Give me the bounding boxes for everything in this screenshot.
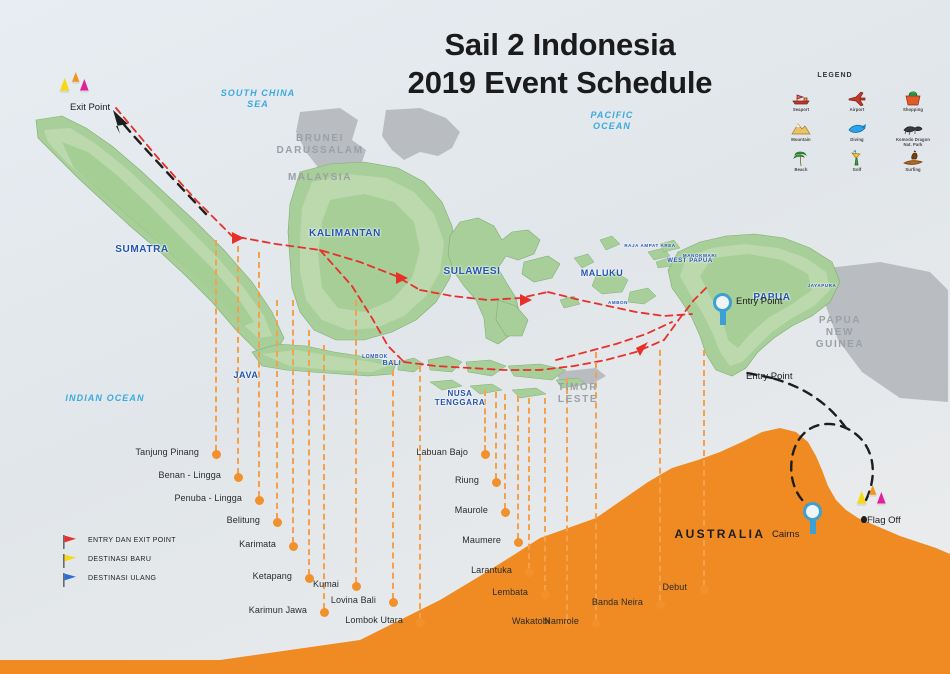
destination-label-labuan-bajo: Labuan Bajo (416, 447, 468, 457)
komodo-icon (903, 120, 923, 136)
legend-item-label: Surfing (886, 167, 940, 172)
legend-icon-wrap (774, 116, 828, 136)
ocean-label-south-china-sea: SOUTH CHINA SEA (211, 88, 306, 110)
destination-dot-lembata (541, 590, 550, 599)
destination-label-kumai: Kumai (313, 579, 339, 589)
legend-item-beach: Beach (774, 146, 828, 172)
surfing-icon (903, 150, 923, 166)
destination-dot-maurole (501, 508, 510, 517)
destination-dot-banda-neira (656, 600, 665, 609)
seaport-icon (791, 90, 811, 106)
destination-label-banda-neira: Banda Neira (592, 597, 643, 607)
destination-label-penuba-lingga: Penuba - Lingga (174, 493, 242, 503)
destination-dot-larantuka (525, 568, 534, 577)
leader-line-benan-lingga (237, 246, 239, 474)
leader-line-belitung (276, 300, 278, 519)
destination-dot-tanjung-pinang (212, 450, 221, 459)
label-cairns: Cairns (772, 529, 799, 540)
destination-label-riung: Riung (455, 475, 479, 485)
destination-dot-riung (492, 478, 501, 487)
flag-legend-row: DESTINASI BARU (62, 553, 262, 572)
legend-icon-wrap (886, 116, 940, 136)
legend-icon-wrap (774, 146, 828, 166)
title-line-1: Sail 2 Indonesia (360, 26, 760, 64)
mountain-icon (791, 120, 811, 136)
island-label-java: JAVA (229, 370, 263, 380)
destination-label-namrole: Namrole (544, 616, 579, 626)
red-sail-route (116, 108, 706, 370)
country-label-malaysia: MALAYSIA (275, 172, 365, 184)
destination-dot-labuan-bajo (481, 450, 490, 459)
leader-line-maurole (504, 394, 506, 509)
flag-legend-label: ENTRY DAN EXIT POINT (88, 537, 176, 544)
flag-legend-label: DESTINASI BARU (88, 556, 151, 563)
legend-item-label: Airport (830, 107, 884, 112)
destination-label-lovina-bali: Lovina Bali (331, 595, 376, 605)
island-label-sulawesi: SULAWESI (442, 266, 502, 277)
label-flag-off: Flag Off (867, 515, 901, 526)
island-label-west-papua: WEST PAPUA (664, 258, 716, 264)
diving-icon (847, 120, 867, 136)
page-title: Sail 2 Indonesia 2019 Event Schedule (360, 26, 760, 102)
legend-panel: LEGEND SeaportAirportShoppingMountainDiv… (772, 62, 942, 170)
island-label-raja-ampat-area: RAJA AMPAT AREA (619, 243, 681, 248)
leader-line-riung (495, 392, 497, 479)
ring-tail-cairns (810, 519, 816, 534)
destination-dot-lombok-utara (416, 618, 425, 627)
legend-icon-wrap (774, 86, 828, 106)
country-label-brunei-darussalam: BRUNEIDARUSSALAM (275, 133, 365, 157)
destination-dot-karimun-jawa (320, 608, 329, 617)
legend-icon-wrap (830, 86, 884, 106)
leader-line-lembata (544, 398, 546, 591)
beach-icon (791, 150, 811, 166)
legend-item-diving: Diving (830, 116, 884, 142)
destination-dot-karimata (289, 542, 298, 551)
flag-legend-row: DESTINASI ULANG (62, 572, 262, 591)
leader-line-karimun-jawa (323, 345, 325, 609)
sailboat-trio-icon (855, 485, 901, 515)
legend-title: LEGEND (800, 72, 870, 79)
leader-line-karimata (292, 300, 294, 543)
country-label-timor-leste: TIMORLESTE (552, 382, 604, 406)
legend-item-surfing: Surfing (886, 146, 940, 172)
leader-line-wakatobi (566, 378, 568, 620)
leader-line-kumai (355, 300, 357, 583)
ring-tail-entry-point-1 (720, 310, 726, 325)
leader-line-debut (703, 350, 705, 586)
island-label-lombok: LOMBOK (360, 354, 390, 360)
island-label-sumatra: SUMATRA (112, 244, 172, 255)
red-flag-icon (62, 535, 78, 549)
airport-icon (847, 90, 867, 106)
label-entry-point-1: Entry Point (736, 296, 782, 307)
legend-item-label: Shopping (886, 107, 940, 112)
country-label-papua-new-guinea: PAPUANEWGUINEA (809, 315, 871, 351)
destination-dot-penuba-lingga (255, 496, 264, 505)
destination-dot-kumai (352, 582, 361, 591)
black-exit-route (120, 120, 206, 214)
legend-item-label: Diving (830, 137, 884, 142)
island-label-jayapura: JAYAPURA (805, 283, 839, 288)
legend-item-seaport: Seaport (774, 86, 828, 112)
destination-dot-belitung (273, 518, 282, 527)
legend-item-label: Beach (774, 167, 828, 172)
destination-dot-namrole (592, 619, 601, 628)
island-label-maluku: MALUKU (576, 268, 628, 278)
legend-icon-wrap (886, 86, 940, 106)
legend-item-label: Seaport (774, 107, 828, 112)
title-line-2: 2019 Event Schedule (360, 64, 760, 102)
island-label-nusa-tenggara: NUSA TENGGARA (425, 389, 495, 407)
destination-dot-benan-lingga (234, 473, 243, 482)
island-label-bali: BALI (380, 360, 404, 367)
anchor-dot-flag-off (861, 516, 867, 523)
destination-label-debut: Debut (662, 582, 687, 592)
golf-icon (847, 150, 867, 166)
destination-dot-lovina-bali (389, 598, 398, 607)
map-canvas: Tanjung PinangBenan - LinggaPenuba - Lin… (0, 0, 950, 674)
legend-icon-wrap (830, 146, 884, 166)
leader-line-lombok-utara (419, 366, 421, 619)
leader-line-ketapang (308, 330, 310, 575)
legend-item-label: Mountain (774, 137, 828, 142)
legend-item-komodo-dragon-nat-park: Komodo DragonNat. Park (886, 116, 940, 147)
destination-dot-maumere (514, 538, 523, 547)
black-entry-route (742, 372, 873, 512)
legend-icon-wrap (830, 116, 884, 136)
destination-label-lembata: Lembata (492, 587, 528, 597)
destination-dot-debut (700, 585, 709, 594)
leader-line-maumere (517, 396, 519, 539)
destination-label-maumere: Maumere (462, 535, 501, 545)
leader-line-tanjung-pinang (215, 240, 217, 451)
legend-item-golf: Golf (830, 146, 884, 172)
ocean-label-indian-ocean: INDIAN OCEAN (60, 393, 150, 404)
legend-item-mountain: Mountain (774, 116, 828, 142)
destination-label-tanjung-pinang: Tanjung Pinang (136, 447, 199, 457)
flag-legend-row: ENTRY DAN EXIT POINT (62, 534, 262, 553)
shopping-icon (903, 90, 923, 106)
legend-icon-wrap (886, 146, 940, 166)
ocean-label-pacific-ocean: PACIFICOCEAN (581, 110, 643, 132)
island-label-ambon: AMBON (605, 300, 631, 305)
destination-label-belitung: Belitung (227, 515, 260, 525)
flag-legend-panel: ENTRY DAN EXIT POINTDESTINASI BARUDESTIN… (62, 534, 262, 591)
island-label-kalimantan: KALIMANTAN (309, 228, 381, 239)
destination-label-lombok-utara: Lombok Utara (345, 615, 403, 625)
label-entry-point-2: Entry Point (746, 371, 792, 382)
red-route-arrows (232, 232, 648, 356)
leader-line-banda-neira (659, 350, 661, 601)
destination-label-larantuka: Larantuka (471, 565, 512, 575)
leader-line-lovina-bali (392, 360, 394, 599)
leader-line-larantuka (528, 398, 530, 569)
yellow-flag-icon (62, 554, 78, 568)
legend-item-airport: Airport (830, 86, 884, 112)
destination-label-benan-lingga: Benan - Lingga (159, 470, 221, 480)
destination-label-maurole: Maurole (455, 505, 488, 515)
flag-legend-label: DESTINASI ULANG (88, 575, 156, 582)
label-exit-point: Exit Point (70, 102, 110, 113)
destination-label-karimun-jawa: Karimun Jawa (249, 605, 307, 615)
sailboat-trio-icon (58, 72, 104, 102)
island-label-manokwari: MANOKWARI (680, 253, 720, 258)
legend-item-label: Golf (830, 167, 884, 172)
legend-item-shopping: Shopping (886, 86, 940, 112)
blue-flag-icon (62, 573, 78, 587)
